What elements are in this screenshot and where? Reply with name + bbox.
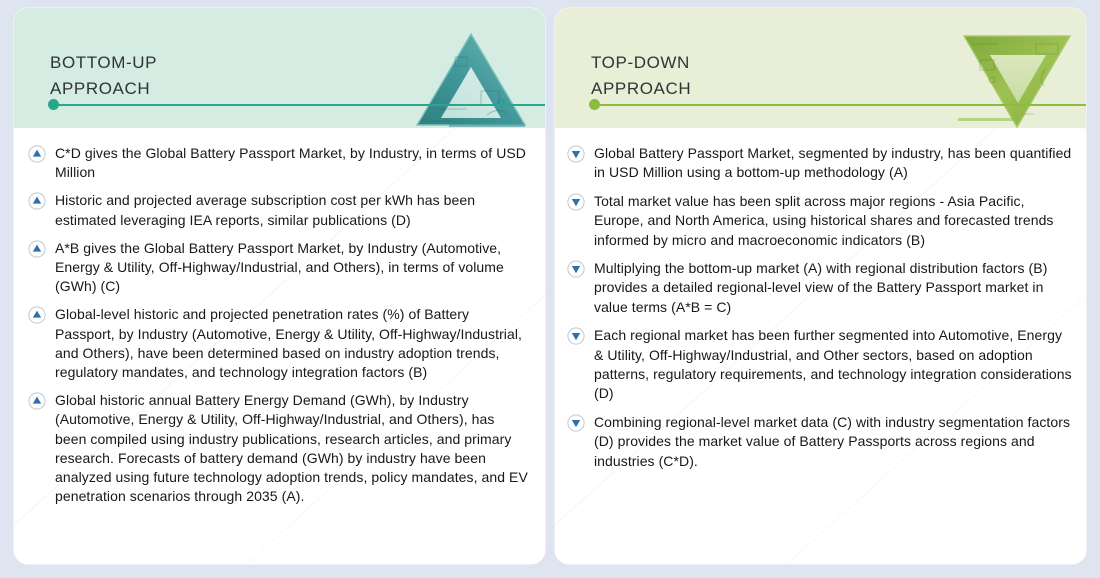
circle-up-triangle-bullet-icon <box>28 306 46 324</box>
list-item-text: Combining regional-level market data (C)… <box>594 413 1072 471</box>
circle-up-triangle-bullet-icon <box>28 192 46 210</box>
bullet-list-top-down: Global Battery Passport Market, segmente… <box>567 144 1072 471</box>
panel-header-top-down: TOP-DOWN APPROACH <box>555 8 1086 128</box>
list-item: Global-level historic and projected pene… <box>28 305 529 382</box>
up-triangle-graphic <box>415 31 527 128</box>
list-item-text: C*D gives the Global Battery Passport Ma… <box>55 144 529 182</box>
panel-body-top-down: Global Battery Passport Market, segmente… <box>555 128 1086 564</box>
circle-down-triangle-bullet-icon <box>567 145 585 163</box>
accent-line-right <box>595 104 1086 107</box>
list-item: C*D gives the Global Battery Passport Ma… <box>28 144 529 182</box>
panel-bottom-up: BOTTOM-UP APPROACH <box>14 8 545 564</box>
panel-body-bottom-up: C*D gives the Global Battery Passport Ma… <box>14 128 545 564</box>
methodology-board: BOTTOM-UP APPROACH <box>0 0 1100 578</box>
list-item-text: Multiplying the bottom-up market (A) wit… <box>594 259 1072 317</box>
circle-down-triangle-bullet-icon <box>567 327 585 345</box>
accent-line-left <box>54 104 545 107</box>
list-item: Multiplying the bottom-up market (A) wit… <box>567 259 1072 317</box>
circle-up-triangle-bullet-icon <box>28 145 46 163</box>
circle-up-triangle-bullet-icon <box>28 392 46 410</box>
list-item-text: Global historic annual Battery Energy De… <box>55 391 529 506</box>
circle-down-triangle-bullet-icon <box>567 260 585 278</box>
bullet-list-bottom-up: C*D gives the Global Battery Passport Ma… <box>28 144 529 506</box>
list-item: Historic and projected average subscript… <box>28 191 529 229</box>
down-triangle-graphic <box>958 30 1076 128</box>
panel-header-bottom-up: BOTTOM-UP APPROACH <box>14 8 545 128</box>
panel-title-bottom-up: BOTTOM-UP APPROACH <box>50 50 157 102</box>
list-item: Combining regional-level market data (C)… <box>567 413 1072 471</box>
accent-rule-right <box>589 103 1086 106</box>
circle-down-triangle-bullet-icon <box>567 414 585 432</box>
panel-title-top-down: TOP-DOWN APPROACH <box>591 50 691 102</box>
list-item-text: Global Battery Passport Market, segmente… <box>594 144 1072 183</box>
list-item: A*B gives the Global Battery Passport Ma… <box>28 239 529 297</box>
list-item: Global Battery Passport Market, segmente… <box>567 144 1072 183</box>
circle-down-triangle-bullet-icon <box>567 193 585 211</box>
list-item-text: Historic and projected average subscript… <box>55 191 529 229</box>
accent-rule-left <box>48 103 545 106</box>
panel-top-down: TOP-DOWN APPROACH <box>555 8 1086 564</box>
list-item-text: A*B gives the Global Battery Passport Ma… <box>55 239 529 297</box>
list-item: Global historic annual Battery Energy De… <box>28 391 529 506</box>
list-item-text: Global-level historic and projected pene… <box>55 305 529 382</box>
list-item: Total market value has been split across… <box>567 192 1072 250</box>
list-item: Each regional market has been further se… <box>567 326 1072 404</box>
circle-up-triangle-bullet-icon <box>28 240 46 258</box>
list-item-text: Each regional market has been further se… <box>594 326 1072 404</box>
list-item-text: Total market value has been split across… <box>594 192 1072 250</box>
